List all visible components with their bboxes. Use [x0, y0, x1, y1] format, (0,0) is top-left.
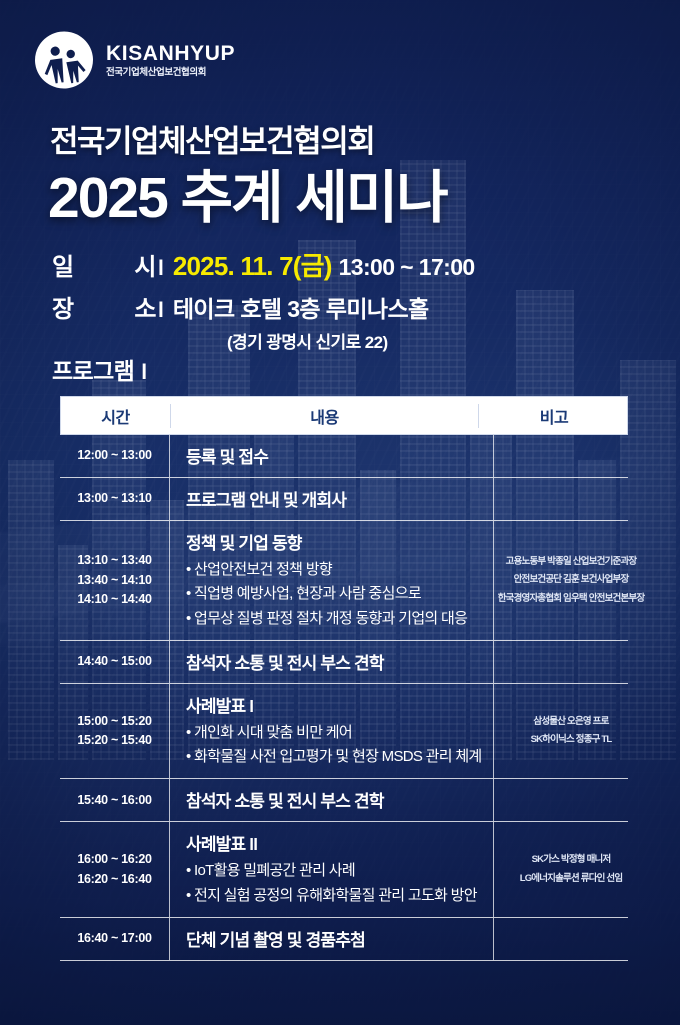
place-divider: l — [158, 299, 164, 323]
row-heading: 사례발표 l — [186, 692, 493, 717]
row-content-cell: 등록 및 접수 — [170, 435, 494, 477]
row-remark: 삼성물산 오은영 프로 — [533, 713, 608, 732]
row-remark-cell — [494, 478, 648, 520]
table-row: 13:00 ~ 13:10프로그램 안내 및 개회사 — [60, 478, 628, 521]
table-row: 13:10 ~ 13:4013:40 ~ 14:1014:10 ~ 14:40정… — [60, 521, 628, 641]
event-time-value: 13:00 ~ 17:00 — [339, 254, 475, 281]
row-heading: 등록 및 접수 — [186, 443, 493, 468]
event-info-block: 일 시 l 2025. 11. 7(금) 13:00 ~ 17:00 장 소 l… — [52, 246, 632, 353]
table-header-remark: 비고 — [479, 404, 629, 428]
table-row: 15:00 ~ 15:2015:20 ~ 15:40사례발표 l• 개인화 시대… — [60, 684, 628, 780]
event-place-value: 테이크 호텔 3층 루미나스홀 — [173, 290, 429, 324]
table-body: 12:00 ~ 13:00등록 및 접수13:00 ~ 13:10프로그램 안내… — [60, 435, 628, 961]
row-content-cell: 참석자 소통 및 전시 부스 견학 — [170, 779, 494, 821]
row-heading: 사례발표 ll — [186, 830, 493, 855]
row-time-cell: 15:40 ~ 16:00 — [60, 779, 170, 821]
row-remark: LG에너지솔루션 류다인 선임 — [520, 870, 623, 889]
row-time-cell: 12:00 ~ 13:00 — [60, 435, 170, 477]
row-time-cell: 16:40 ~ 17:00 — [60, 918, 170, 960]
table-row: 16:00 ~ 16:2016:20 ~ 16:40사례발표 ll• IoT활용… — [60, 822, 628, 918]
table-header-row: 시간 내용 비고 — [60, 396, 628, 435]
row-time: 14:10 ~ 14:40 — [77, 590, 151, 609]
row-heading: 단체 기념 촬영 및 경품추첨 — [186, 926, 493, 951]
row-content-cell: 사례발표 ll• IoT활용 밀폐공간 관리 사례• 전지 실험 공정의 유해화… — [170, 822, 494, 917]
row-remark: SK가스 박정형 매니저 — [532, 851, 611, 870]
event-date-row: 일 시 l 2025. 11. 7(금) 13:00 ~ 17:00 — [52, 246, 632, 283]
row-content-cell: 단체 기념 촬영 및 경품추첨 — [170, 918, 494, 960]
date-divider: l — [158, 257, 164, 281]
row-bullet: • IoT활용 밀폐공간 관리 사례 — [186, 859, 493, 883]
row-remark-cell — [494, 435, 648, 477]
brand-name-en: KISANHYUP — [106, 43, 235, 64]
table-row: 14:40 ~ 15:00참석자 소통 및 전시 부스 견학 — [60, 641, 628, 684]
row-time-cell: 13:00 ~ 13:10 — [60, 478, 170, 520]
event-place-row: 장 소 l 테이크 호텔 3층 루미나스홀 — [52, 289, 632, 324]
program-table: 시간 내용 비고 12:00 ~ 13:00등록 및 접수13:00 ~ 13:… — [60, 396, 628, 961]
row-remark: 고용노동부 박종일 산업보건기준과장 — [506, 553, 637, 572]
row-time: 16:00 ~ 16:20 — [77, 850, 151, 869]
table-header-time: 시간 — [61, 404, 171, 428]
row-time: 13:40 ~ 14:10 — [77, 571, 151, 590]
row-bullet: • 업무상 질병 판정 절차 개정 동향과 기업의 대응 — [186, 607, 493, 631]
event-date-label-a: 일 — [52, 247, 74, 282]
table-row: 16:40 ~ 17:00단체 기념 촬영 및 경품추첨 — [60, 918, 628, 961]
row-content-cell: 참석자 소통 및 전시 부스 견학 — [170, 641, 494, 683]
row-content-cell: 사례발표 l• 개인화 시대 맞춤 비만 케어• 화학물질 사전 입고평가 및 … — [170, 684, 494, 779]
row-remark-cell: SK가스 박정형 매니저LG에너지솔루션 류다인 선임 — [494, 822, 648, 917]
program-section-label: 프로그램l — [52, 352, 156, 386]
poster-root: KISANHYUP 전국기업체산업보건협의회 전국기업체산업보건협의회 2025… — [0, 0, 680, 1025]
row-heading: 참석자 소통 및 전시 부스 견학 — [186, 649, 493, 674]
row-bullet: • 화학물질 사전 입고평가 및 현장 MSDS 관리 체계 — [186, 745, 493, 769]
table-header-content: 내용 — [171, 404, 479, 428]
row-content-cell: 프로그램 안내 및 개회사 — [170, 478, 494, 520]
row-time: 13:10 ~ 13:40 — [77, 551, 151, 570]
event-place-label-a: 장 — [52, 289, 74, 324]
row-time: 16:20 ~ 16:40 — [77, 870, 151, 889]
row-content-cell: 정책 및 기업 동향• 산업안전보건 정책 방향• 직업병 예방사업, 현장과 … — [170, 521, 494, 640]
brand-logo: KISANHYUP 전국기업체산업보건협의회 — [33, 30, 235, 90]
row-remark-cell — [494, 641, 648, 683]
row-time: 15:40 ~ 16:00 — [77, 791, 151, 810]
two-people-oval-logo-icon — [33, 30, 95, 90]
event-date-value: 2025. 11. 7(금) — [173, 246, 332, 283]
event-date-label-b: 시 — [134, 247, 156, 282]
row-heading: 프로그램 안내 및 개회사 — [186, 486, 493, 511]
event-place-label: 장 소 — [52, 289, 158, 324]
row-remark-cell — [494, 918, 648, 960]
row-time: 12:00 ~ 13:00 — [77, 446, 151, 465]
row-remark: 한국경영자총협회 임우택 안전보건본부장 — [498, 590, 645, 609]
program-label-text: 프로그램 — [52, 358, 134, 384]
row-remark-cell: 고용노동부 박종일 산업보건기준과장안전보건공단 김훈 보건사업부장한국경영자총… — [494, 521, 648, 640]
row-bullet: • 전지 실험 공정의 유해화학물질 관리 고도화 방안 — [186, 884, 493, 908]
event-date-label: 일 시 — [52, 247, 158, 282]
row-bullet: • 직업병 예방사업, 현장과 사람 중심으로 — [186, 582, 493, 606]
row-remark: SK하이닉스 정종구 TL — [531, 731, 612, 750]
row-remark-cell — [494, 779, 648, 821]
row-time-cell: 16:00 ~ 16:2016:20 ~ 16:40 — [60, 822, 170, 917]
row-time: 15:20 ~ 15:40 — [77, 731, 151, 750]
row-time-cell: 13:10 ~ 13:4013:40 ~ 14:1014:10 ~ 14:40 — [60, 521, 170, 640]
poster-title: 2025 추계 세미나 — [48, 152, 447, 234]
row-time: 16:40 ~ 17:00 — [77, 929, 151, 948]
row-time-cell: 15:00 ~ 15:2015:20 ~ 15:40 — [60, 684, 170, 779]
row-bullet: • 산업안전보건 정책 방향 — [186, 558, 493, 582]
row-remark-cell: 삼성물산 오은영 프로SK하이닉스 정종구 TL — [494, 684, 648, 779]
brand-name-kr: 전국기업체산업보건협의회 — [106, 68, 235, 78]
row-time: 15:00 ~ 15:20 — [77, 712, 151, 731]
row-heading: 정책 및 기업 동향 — [186, 529, 493, 554]
event-place-label-b: 소 — [134, 289, 156, 324]
table-row: 12:00 ~ 13:00등록 및 접수 — [60, 435, 628, 478]
row-time-cell: 14:40 ~ 15:00 — [60, 641, 170, 683]
row-bullet: • 개인화 시대 맞춤 비만 케어 — [186, 721, 493, 745]
row-time: 14:40 ~ 15:00 — [77, 652, 151, 671]
program-divider: l — [141, 361, 146, 384]
event-address: (경기 광명시 신기로 22) — [227, 328, 632, 353]
table-row: 15:40 ~ 16:00참석자 소통 및 전시 부스 견학 — [60, 779, 628, 822]
row-time: 13:00 ~ 13:10 — [77, 489, 151, 508]
row-remark: 안전보건공단 김훈 보건사업부장 — [514, 571, 629, 590]
row-heading: 참석자 소통 및 전시 부스 견학 — [186, 787, 493, 812]
